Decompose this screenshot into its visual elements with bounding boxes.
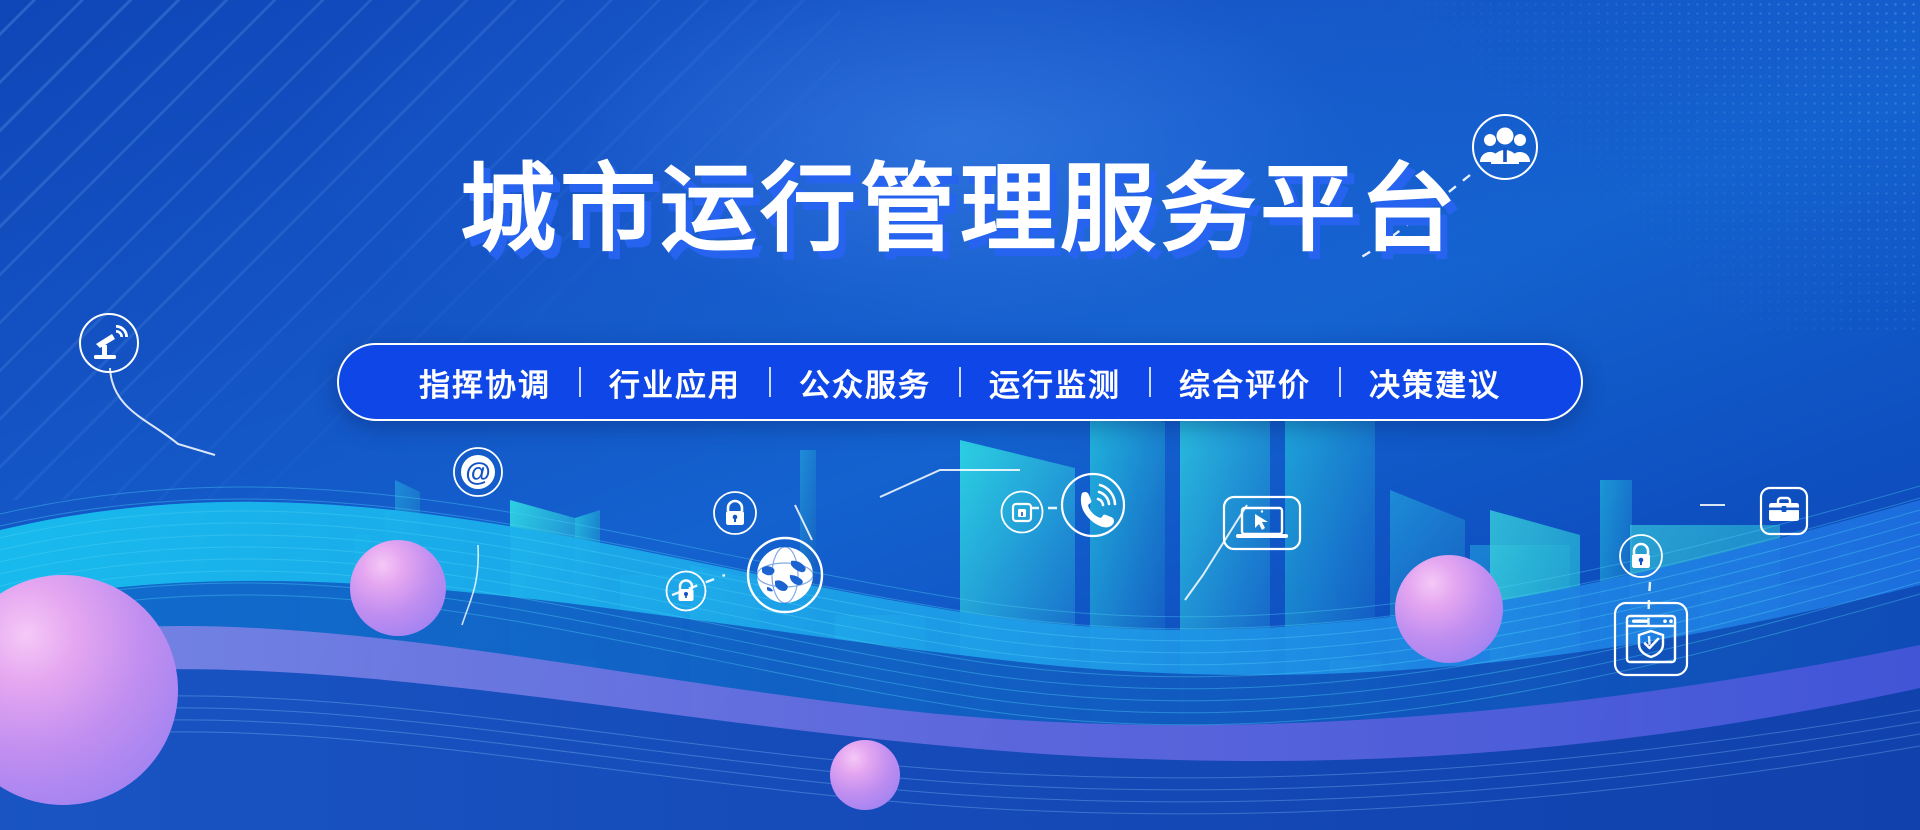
browser-shield-icon[interactable] bbox=[1612, 600, 1690, 678]
city-operation-banner: @ bbox=[0, 0, 1920, 830]
lock-icon[interactable] bbox=[665, 570, 707, 612]
primary-nav: 指挥协调 行业应用 公众服务 运行监测 综合评价 决策建议 bbox=[337, 343, 1583, 421]
banner-title-wrap: 城市运行管理服务平台 bbox=[0, 160, 1920, 261]
lock-icon[interactable] bbox=[1618, 533, 1664, 579]
svg-text:@: @ bbox=[465, 457, 490, 487]
city-skyline-illustration bbox=[0, 360, 1920, 830]
lock-icon[interactable] bbox=[712, 490, 758, 536]
laptop-cursor-icon[interactable] bbox=[1222, 495, 1302, 551]
nav-item-command-coordination[interactable]: 指挥协调 bbox=[391, 360, 579, 405]
at-sign-icon[interactable]: @ bbox=[452, 446, 504, 498]
nav-item-decision-suggestion[interactable]: 决策建议 bbox=[1341, 360, 1529, 405]
decorative-orb bbox=[830, 740, 900, 810]
lock-icon[interactable] bbox=[1000, 490, 1044, 534]
globe-icon[interactable] bbox=[745, 535, 825, 615]
phone-signal-icon[interactable] bbox=[1060, 472, 1126, 538]
decorative-orb bbox=[0, 575, 178, 805]
nav-item-public-service[interactable]: 公众服务 bbox=[771, 360, 959, 405]
satellite-dish-icon[interactable] bbox=[78, 312, 140, 374]
decorative-orb bbox=[350, 540, 446, 636]
nav-item-industry-application[interactable]: 行业应用 bbox=[581, 360, 769, 405]
page-title: 城市运行管理服务平台 bbox=[460, 160, 1460, 261]
decorative-orb bbox=[1395, 555, 1503, 663]
nav-item-operation-monitoring[interactable]: 运行监测 bbox=[961, 360, 1149, 405]
briefcase-icon[interactable] bbox=[1758, 485, 1810, 537]
nav-item-comprehensive-evaluation[interactable]: 综合评价 bbox=[1151, 360, 1339, 405]
